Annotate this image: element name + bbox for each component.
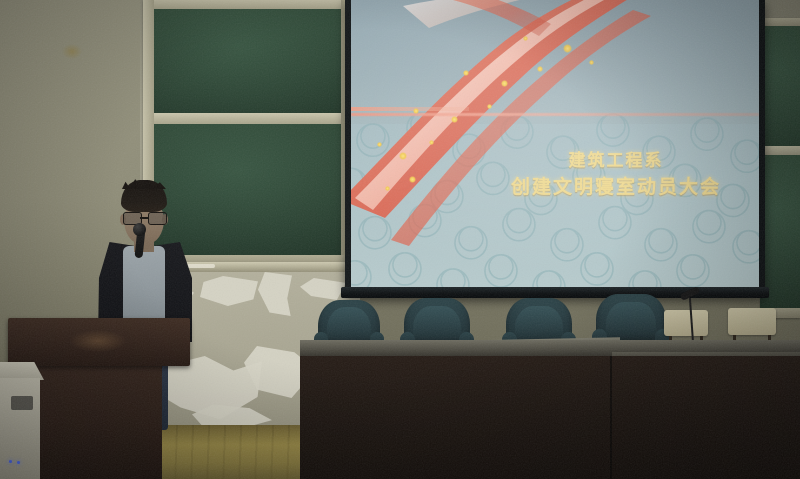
handheld-microphone-head [133,223,146,236]
projected-slide: 建筑工程系 创建文明寝室动员大会 [351,0,759,287]
plaster-peel-patch [300,278,346,300]
slide-sparkle [523,36,528,41]
conference-table-front [300,356,800,479]
eyeglasses-icon [122,212,167,224]
eyeglasses-bridge [140,217,149,219]
av-equipment-desk [0,362,44,479]
chalkboard-right-panel-lower [760,155,800,308]
conference-table-seam [610,356,612,479]
slide-divider-line [351,113,759,116]
equipment-slot [11,396,33,410]
projection-screen: 建筑工程系 创建文明寝室动员大会 [345,0,765,298]
slide-sparkle [589,60,594,65]
plaster-peel-patch [258,272,292,316]
slide-sparkle [537,66,543,72]
slide-sparkle [377,142,382,147]
slide-sparkle [563,44,572,53]
slide-sparkle [487,104,492,109]
slide-sparkle [463,70,469,76]
slide-sparkle [451,116,458,123]
chalkboard-right-frame-top [760,18,800,26]
slide-sparkle [501,80,508,87]
lectern-emblem [70,330,126,352]
chalkboard-frame-top [143,0,348,9]
wall-stain [62,44,82,59]
chair-cushion [515,306,563,340]
leather-chair [596,294,666,344]
chalkboard-panel-upper [154,9,341,113]
lectern-top [8,318,190,366]
eyeglasses-lens-right [148,212,167,225]
wooden-chair-backrest [728,308,776,335]
leather-chair [404,298,470,346]
screen-border-right [759,0,765,298]
plaster-peel-patch [200,276,258,306]
equipment-desk-front [0,378,40,479]
chair-cushion [327,307,372,339]
photo-scene: 建筑工程系 创建文明寝室动员大会 [0,0,800,479]
equipment-indicator-led [17,461,20,464]
slide-title-line-1: 建筑工程系 [491,150,741,173]
slide-title-line-2: 创建文明寝室动员大会 [491,175,741,200]
slide-sparkle [399,152,407,160]
microphone-stem [689,298,694,342]
equipment-indicator-led [9,460,12,463]
chair-cushion [606,302,656,337]
chalkboard-right-panel-upper [760,26,800,146]
slide-title-block: 建筑工程系 创建文明寝室动员大会 [491,150,741,200]
chalkboard-frame-middle [151,113,348,124]
slide-sparkle [409,176,416,183]
slide-sparkle [413,108,419,114]
chalkboard-right-frame-middle [760,146,800,155]
chair-cushion [413,306,461,340]
slide-ribbon-graphic [351,0,759,287]
slide-sparkle [385,186,390,191]
green-chalkboard-right-strip [760,18,800,318]
lectern-column [36,364,162,479]
slide-sparkle [429,140,434,145]
